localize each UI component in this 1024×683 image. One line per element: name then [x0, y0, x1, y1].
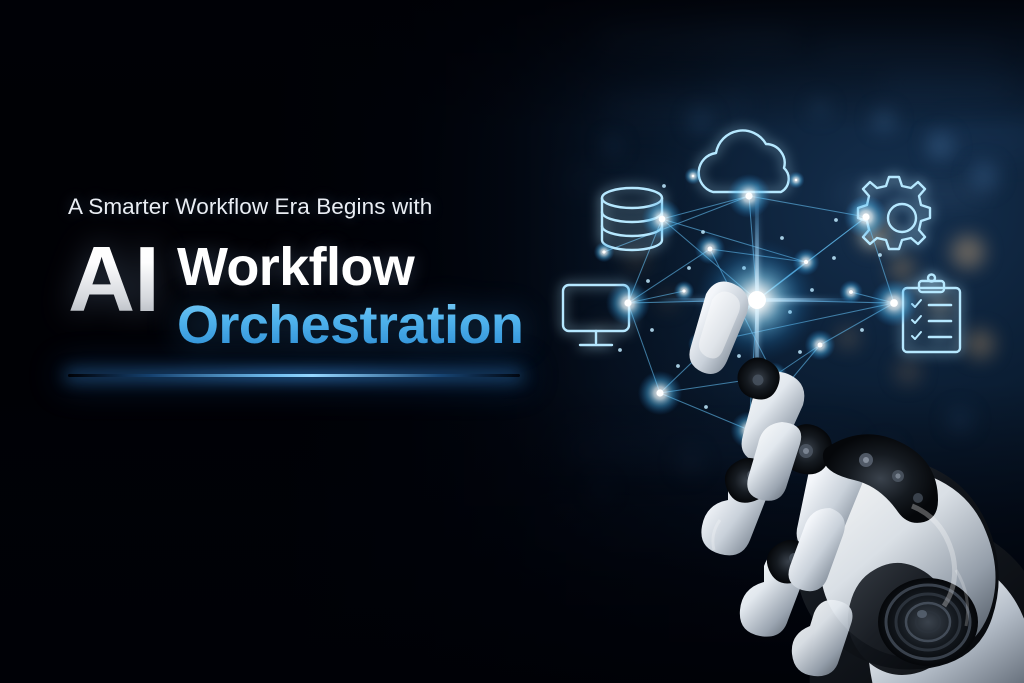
network-sparkle — [780, 236, 784, 240]
headline-line-orchestration: Orchestration — [177, 297, 523, 354]
network-sparkle — [878, 253, 882, 257]
network-sparkle — [662, 184, 666, 188]
network-node[interactable] — [708, 247, 713, 252]
network-node[interactable] — [745, 192, 752, 199]
network-sparkle — [618, 348, 622, 352]
network-node[interactable] — [692, 175, 695, 178]
headline-underglow-line — [68, 374, 520, 377]
robot-hand — [660, 270, 1024, 683]
headline-stack: Workflow Orchestration — [177, 240, 523, 354]
network-node[interactable] — [659, 216, 666, 223]
headline: AI Workflow Orchestration — [68, 237, 538, 354]
network-sparkle — [832, 256, 836, 260]
hero-text-block: A Smarter Workflow Era Begins with AI Wo… — [68, 196, 538, 353]
network-node[interactable] — [795, 179, 798, 182]
network-node[interactable] — [602, 250, 605, 253]
network-sparkle — [834, 218, 838, 222]
hero-banner: A Smarter Workflow Era Begins with AI Wo… — [0, 0, 1024, 683]
network-node[interactable] — [862, 213, 869, 220]
network-node[interactable] — [624, 299, 631, 306]
network-sparkle — [701, 230, 705, 234]
hand-body — [689, 282, 1024, 683]
ai-wordmark: AI — [68, 237, 161, 323]
headline-line-workflow: Workflow — [177, 240, 523, 295]
network-sparkle — [646, 279, 650, 283]
wrist-rotary-joint — [878, 578, 978, 666]
kicker-text: A Smarter Workflow Era Begins with — [68, 196, 538, 219]
network-sparkle — [650, 328, 654, 332]
